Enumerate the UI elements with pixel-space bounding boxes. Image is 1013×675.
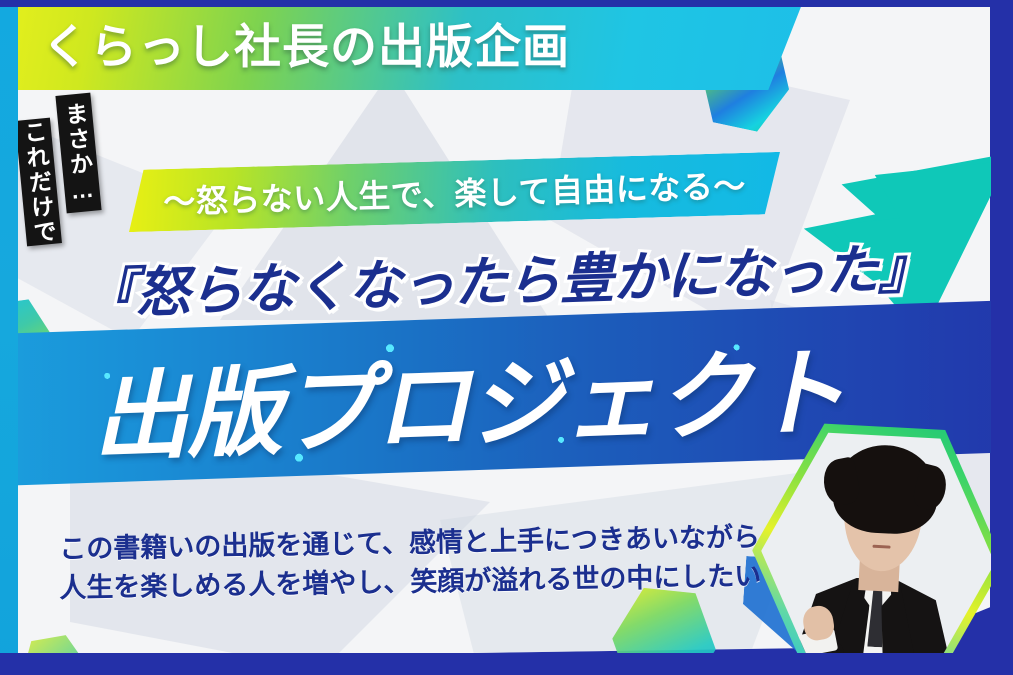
top-ribbon-label: くらっし社長の出版企画 [42,8,570,77]
portrait-hexagon [745,418,1011,675]
subtitle-band-label: 〜怒らない人生で、楽して自由になる〜 [163,161,747,223]
frame-right [991,0,1013,675]
description-block: この書籍いの出版を通じて、感情と上手につきあいながら 人生を楽しめる人を増やし、… [29,517,790,609]
portrait-mouth [872,545,890,549]
promo-banner: くらっし社長の出版企画 まさか… これだけで 〜怒らない人生で、楽して自由になる… [0,0,1013,675]
top-ribbon: くらっし社長の出版企画 [0,0,806,90]
portrait-hair [831,443,939,536]
frame-bottom [0,653,1013,675]
left-cyan-rail [0,0,18,675]
frame-top [0,0,1013,7]
